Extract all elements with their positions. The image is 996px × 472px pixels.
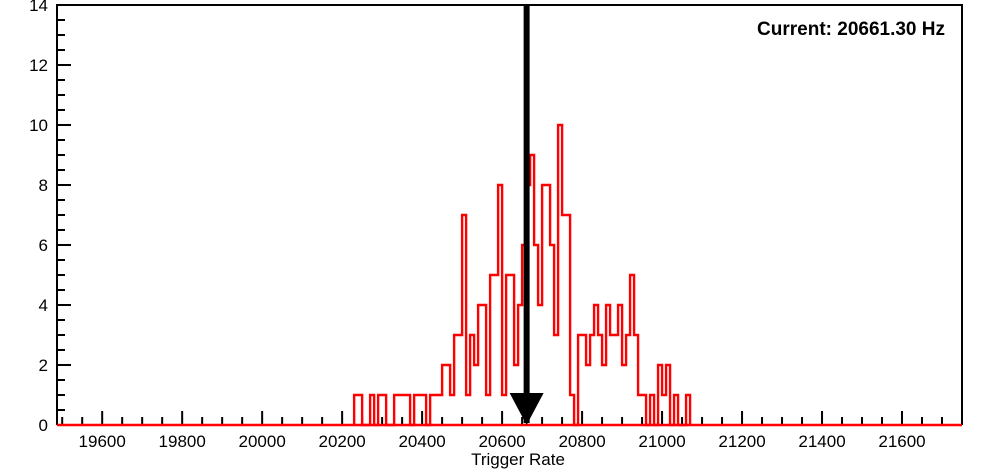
x-tick-label: 20800 — [558, 432, 605, 451]
x-tick-label: 20200 — [318, 432, 365, 451]
y-tick-label: 4 — [39, 296, 48, 315]
x-tick-label: 21000 — [638, 432, 685, 451]
x-tick-label: 19800 — [159, 432, 206, 451]
x-tick-label: 21200 — [718, 432, 765, 451]
y-tick-label: 6 — [39, 236, 48, 255]
y-tick-label: 10 — [29, 116, 48, 135]
x-tick-label: 21400 — [798, 432, 845, 451]
x-tick-label: 20600 — [478, 432, 525, 451]
x-tick-label: 19600 — [79, 432, 126, 451]
y-tick-label: 14 — [29, 0, 48, 15]
current-value-annotation: Current: 20661.30 Hz — [757, 19, 945, 40]
x-axis-tick-labels: 1960019800200002020020400206002080021000… — [79, 432, 926, 451]
x-axis-title: Trigger Rate — [471, 450, 565, 469]
root-canvas: 02468101214 1960019800200002020020400206… — [0, 0, 996, 472]
y-tick-label: 12 — [29, 56, 48, 75]
x-tick-label: 21600 — [878, 432, 925, 451]
x-tick-label: 20400 — [398, 432, 445, 451]
y-tick-label: 0 — [39, 416, 48, 435]
x-tick-label: 20000 — [239, 432, 286, 451]
y-tick-label: 2 — [39, 356, 48, 375]
y-tick-label: 8 — [39, 176, 48, 195]
histogram-plot: 02468101214 1960019800200002020020400206… — [0, 0, 996, 472]
